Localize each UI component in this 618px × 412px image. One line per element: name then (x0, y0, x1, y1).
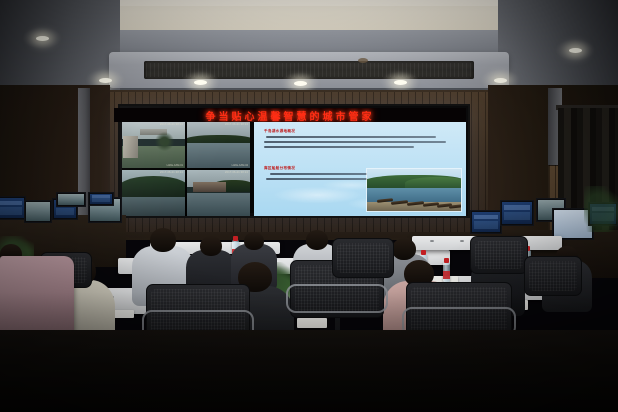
document-paper-1 (297, 318, 327, 328)
feed-village (193, 182, 226, 192)
office-chair-right[interactable] (470, 236, 528, 274)
camera-feed-3[interactable]: 2017-06-21 08:14 (122, 170, 185, 216)
slide-landscape-photo (366, 168, 462, 212)
camera-feed-4[interactable]: 2017-06-21 08:14 (187, 170, 250, 216)
office-chair-far-right[interactable] (524, 256, 582, 296)
photo-mountain-right (405, 177, 462, 190)
feed-label: LAKE-CAM-01 (167, 164, 183, 167)
slide-text-line-2 (264, 141, 446, 143)
feed-railing (123, 136, 138, 158)
chair-mesh (475, 241, 523, 269)
feed-water (122, 197, 185, 216)
downlight-1 (99, 78, 112, 83)
potted-plant-right (584, 186, 618, 232)
monitor-screen (0, 198, 24, 218)
presentation-slide[interactable]: 千岛湖水源地概况 库区船舶分布情况 (254, 122, 466, 216)
chair-backrest (524, 256, 582, 296)
operator-monitor-6[interactable] (88, 192, 114, 206)
led-banner-text: 争当贴心温馨智慧的城市管家 (206, 108, 375, 122)
monitor-screen (90, 194, 112, 204)
chair-backrest (470, 236, 528, 274)
slide-text-line-1 (266, 136, 436, 138)
feed-timestamp: 2017-06-21 08:14 (160, 171, 183, 174)
operator-monitor-7[interactable] (470, 210, 502, 234)
control-room-scene: 2017-06-21 08:14 LAKE-CAM-01 2017-06-21 … (0, 0, 618, 412)
downlight-4 (394, 80, 407, 85)
downlight-6 (36, 36, 49, 41)
operator-monitor-1[interactable] (0, 196, 26, 220)
chair-armrest-rim (286, 284, 388, 313)
feed-timestamp: 2017-06-21 08:14 (225, 171, 248, 174)
monitor-screen (26, 202, 50, 221)
feed-timestamp: 2017-06-21 08:14 (160, 123, 183, 126)
feed-water (187, 193, 250, 216)
downlight-2 (194, 80, 207, 85)
downlight-5 (494, 78, 507, 83)
person-head (150, 228, 176, 252)
person-head (244, 232, 264, 250)
chair-mesh (337, 243, 389, 273)
camera-feed-grid[interactable]: 2017-06-21 08:14 LAKE-CAM-01 2017-06-21 … (122, 122, 250, 216)
downlight-7 (569, 48, 582, 53)
feed-label: LAKE-CAM-02 (232, 164, 248, 167)
operator-monitor-2[interactable] (24, 200, 52, 223)
slide-text-line-5 (266, 178, 378, 180)
operator-monitor-8[interactable] (500, 200, 534, 226)
water-bottle-5 (443, 262, 450, 283)
downlight-3 (294, 81, 307, 86)
table-grommet-10 (460, 240, 464, 242)
chair-mesh (529, 261, 577, 291)
camera-feed-2[interactable]: 2017-06-21 08:14 LAKE-CAM-02 (187, 122, 250, 168)
person-head (306, 230, 328, 250)
office-chair-mid[interactable] (332, 238, 394, 278)
monitor-screen (472, 212, 500, 232)
person-head (392, 238, 416, 260)
monitor-screen (58, 194, 84, 205)
floor (0, 330, 618, 412)
feed-tree (155, 132, 174, 151)
camera-feed-1[interactable]: 2017-06-21 08:14 LAKE-CAM-01 (122, 122, 185, 168)
monitor-screen (502, 202, 532, 224)
operator-monitor-4[interactable] (56, 192, 86, 207)
slide-heading-1: 千岛湖水源地概况 (264, 129, 295, 134)
feed-timestamp: 2017-06-21 08:14 (225, 123, 248, 126)
table-grommet-9 (430, 240, 434, 242)
slide-text-line-3 (264, 146, 414, 148)
slide-heading-2: 库区船舶分布情况 (264, 166, 295, 171)
person-head (200, 236, 222, 256)
chair-backrest (332, 238, 394, 278)
led-scrolling-banner: 争当贴心温馨智慧的城市管家 (114, 108, 466, 122)
